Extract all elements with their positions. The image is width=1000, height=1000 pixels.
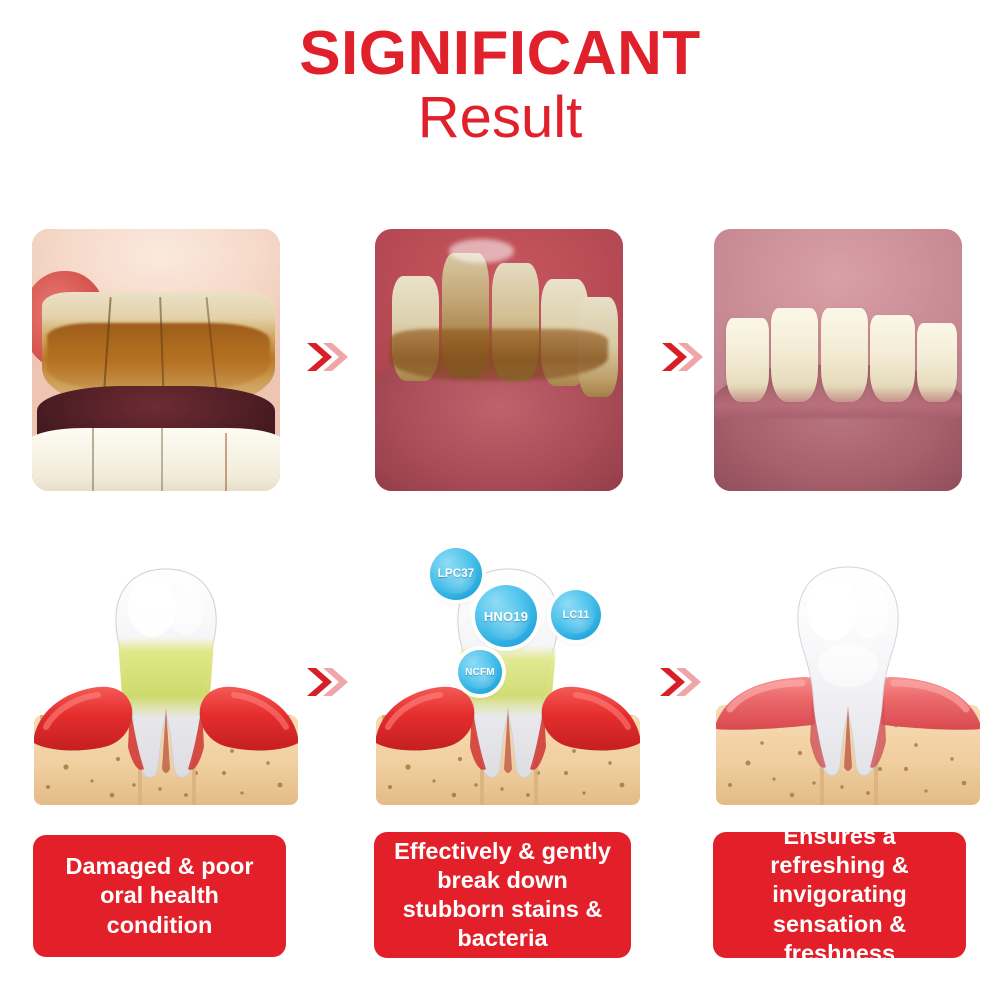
- caption-box-treating: Effectively & gently break down stubborn…: [374, 832, 631, 958]
- infographic-canvas: SIGNIFICANT Result: [0, 0, 1000, 1000]
- photo-panel-before: [32, 229, 280, 491]
- page-title: SIGNIFICANT Result: [0, 22, 1000, 150]
- tooth-diagram-healthy: [708, 537, 988, 817]
- chevron-arrow-photos-1: [303, 337, 349, 377]
- tooth-diagram-damaged: [26, 537, 306, 817]
- probiotic-bubble-label: NCFM: [465, 667, 495, 678]
- probiotic-bubble-label: HNO19: [484, 609, 528, 624]
- chevron-arrow-photos-2: [658, 337, 704, 377]
- caption-text: Ensures a refreshing & invigorating sens…: [725, 822, 954, 968]
- tooth-diagram-treating: LPC37 HNO19 LC11 NCFM: [368, 537, 648, 817]
- caption-box-damaged: Damaged & poor oral health condition: [33, 835, 286, 957]
- photo-panel-during: [375, 229, 623, 491]
- title-line-primary: SIGNIFICANT: [0, 22, 1000, 85]
- caption-text: Effectively & gently break down stubborn…: [386, 837, 619, 954]
- photo-panel-after: [714, 229, 962, 491]
- chevron-arrow-diagrams-2: [656, 662, 702, 702]
- probiotic-bubble-hno19: HNO19: [475, 585, 537, 647]
- probiotic-bubble-label: LPC37: [438, 568, 475, 580]
- probiotic-bubble-lpc37: LPC37: [430, 548, 482, 600]
- probiotic-bubble-label: LC11: [562, 609, 589, 621]
- caption-box-healthy: Ensures a refreshing & invigorating sens…: [713, 832, 966, 958]
- caption-text: Damaged & poor oral health condition: [45, 852, 274, 939]
- chevron-arrow-diagrams-1: [303, 662, 349, 702]
- title-line-secondary: Result: [0, 87, 1000, 150]
- probiotic-bubble-ncfm: NCFM: [458, 650, 502, 694]
- probiotic-bubble-lc11: LC11: [551, 590, 601, 640]
